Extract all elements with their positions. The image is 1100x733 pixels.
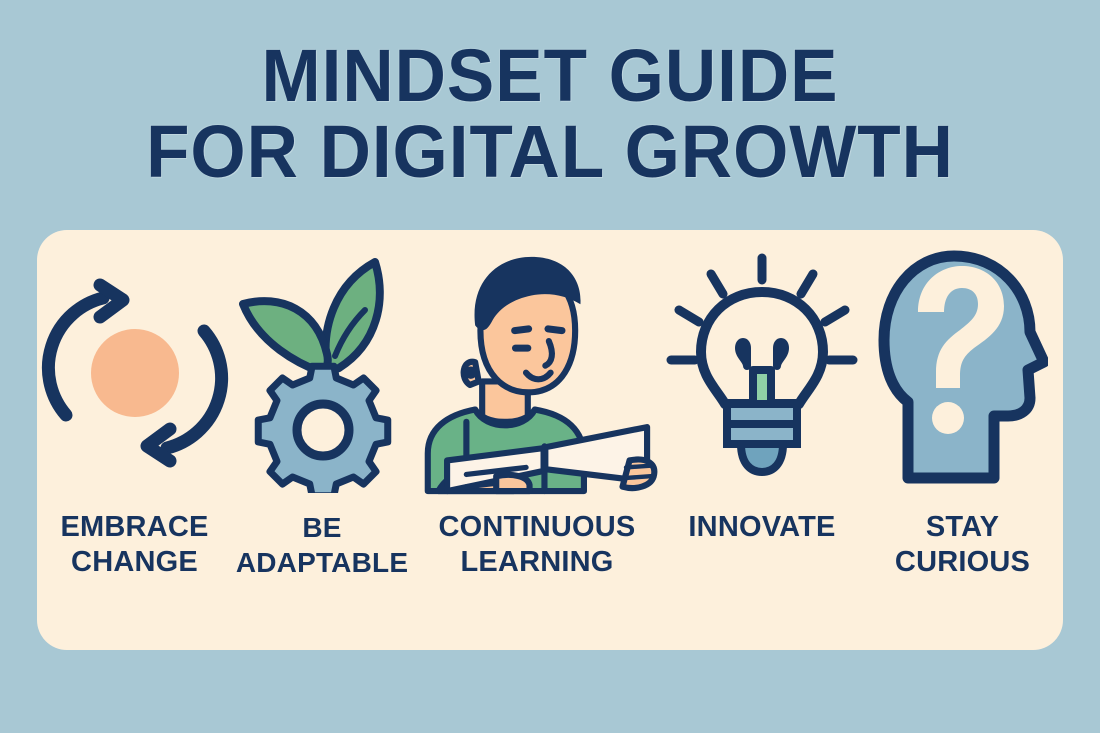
person-reading-icon (412, 233, 662, 508)
label-line-2: CHANGE (71, 546, 198, 578)
principle-continuous-learning[interactable]: CONTINUOUS LEARNING (412, 230, 662, 650)
principle-label: CONTINUOUS LEARNING (435, 510, 640, 580)
label-line-1: STAY (926, 511, 999, 543)
page-title: MINDSET GUIDE FOR DIGITAL GROWTH (0, 38, 1100, 190)
label-line-2: LEARNING (460, 546, 613, 578)
label-line-1: INNOVATE (688, 511, 835, 543)
principle-label: STAY CURIOUS (891, 510, 1034, 580)
embrace-change-art (37, 230, 232, 510)
leaf-right-shape (325, 262, 379, 369)
principle-label: EMBRACE CHANGE (56, 510, 212, 580)
principle-be-adaptable[interactable]: BE ADAPTABLE (232, 230, 412, 650)
circular-arrows-icon (40, 263, 230, 478)
leaf-left-shape (243, 301, 328, 372)
label-line-1: EMBRACE (60, 511, 208, 543)
title-line-1: MINDSET GUIDE (22, 38, 1078, 114)
hand-right (623, 459, 655, 488)
stay-curious-art (862, 230, 1063, 510)
principle-label: BE ADAPTABLE (232, 510, 412, 580)
lightbulb-icon (665, 248, 860, 493)
plant-gear-icon (235, 248, 410, 493)
be-adaptable-art (232, 230, 412, 510)
infographic-poster: MINDSET GUIDE FOR DIGITAL GROWTH EMBRACE (0, 0, 1100, 733)
principles-row: EMBRACE CHANGE (37, 230, 1063, 650)
continuous-learning-art (412, 230, 662, 510)
label-line-1: BE (302, 512, 341, 543)
head-question-mark-icon (878, 250, 1048, 490)
label-line-2: ADAPTABLE (236, 547, 408, 578)
title-line-2: FOR DIGITAL GROWTH (22, 114, 1078, 190)
label-line-2: CURIOUS (895, 546, 1030, 578)
principle-label: INNOVATE (684, 510, 839, 545)
gear-shape (258, 366, 387, 493)
hand-left (496, 474, 529, 490)
principle-embrace-change[interactable]: EMBRACE CHANGE (37, 230, 232, 650)
principle-stay-curious[interactable]: STAY CURIOUS (862, 230, 1063, 650)
principle-innovate[interactable]: INNOVATE (662, 230, 862, 650)
label-line-1: CONTINUOUS (439, 511, 636, 543)
innovate-art (662, 230, 862, 510)
